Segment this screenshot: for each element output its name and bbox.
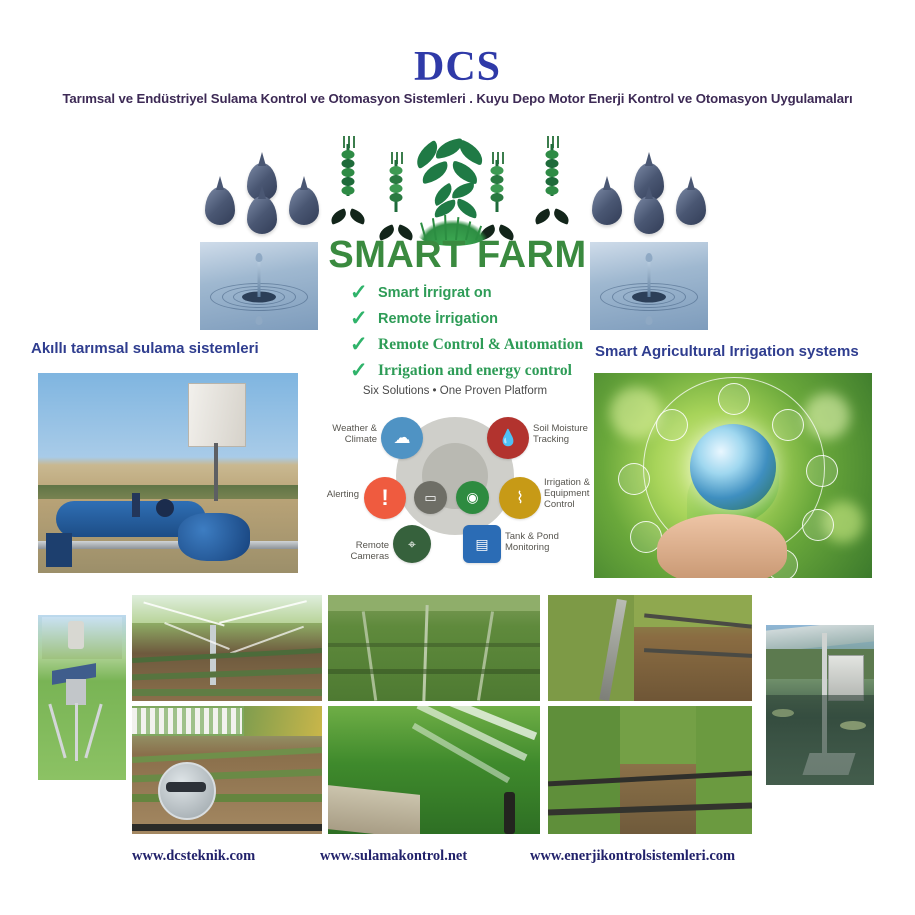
- feature-item: ✓ Smart İrrigrat on: [350, 282, 585, 305]
- footer-links: www.dcsteknik.com www.sulamakontrol.net …: [0, 848, 915, 870]
- wheel-node-soil-moisture[interactable]: 💧: [487, 417, 529, 459]
- wheel-node-signal[interactable]: ◉: [456, 481, 489, 514]
- solar-panel-icon: [806, 455, 838, 487]
- water-drop-icon: [676, 187, 706, 225]
- water-drop-icon: [247, 196, 277, 234]
- sun-icon: [718, 383, 750, 415]
- feature-label: Irrigation and energy control: [378, 362, 572, 379]
- plant-sprout-icon: [802, 509, 834, 541]
- battery-icon: [772, 409, 804, 441]
- water-drop-icon: [634, 196, 664, 234]
- feature-item: ✓ Remote Control & Automation: [350, 334, 585, 357]
- feature-label: Remote İrrigation: [378, 311, 498, 327]
- wheel-label-irrigation-equipment: Irrigation &EquipmentControl: [544, 477, 590, 510]
- footer-link-sulamakontrol[interactable]: www.sulamakontrol.net: [320, 848, 467, 865]
- drip-tape-soil-furrow-photo: [548, 595, 752, 701]
- wheel-node-irrigation-equipment[interactable]: ⌇: [499, 477, 541, 519]
- feature-item: ✓ Irrigation and energy control: [350, 360, 585, 383]
- wheel-title: Six Solutions • One Proven Platform: [325, 385, 585, 397]
- sprinkler-field-rows-photo: [132, 595, 322, 701]
- feature-label: Smart İrrigrat on: [378, 285, 492, 301]
- green-energy-globe-in-hand-photo: [594, 373, 872, 578]
- page-title: DCS: [0, 46, 915, 88]
- smart-farm-wordmark: SMART FARM: [0, 236, 915, 274]
- wheel-label-alerting: Alerting: [311, 489, 359, 500]
- footer-link-dcsteknik[interactable]: www.dcsteknik.com: [132, 848, 255, 865]
- wheel-node-remote-cameras[interactable]: ⌖: [393, 525, 431, 563]
- feature-label: Remote Control & Automation: [378, 336, 583, 353]
- wheel-node-tank-pond[interactable]: ▤: [463, 525, 501, 563]
- wheel-label-weather: Weather &Climate: [323, 423, 377, 445]
- check-icon: ✓: [350, 361, 370, 381]
- caption-right: Smart Agricultural Irrigation systems: [595, 343, 859, 360]
- check-icon: ✓: [350, 309, 370, 329]
- irrigation-pump-control-cabinet-photo: [38, 373, 298, 573]
- lawn-sprinkler-spray-photo: [328, 706, 540, 834]
- wheel-node-weather[interactable]: ☁: [381, 417, 423, 459]
- caption-left: Akıllı tarımsal sulama sistemleri: [31, 340, 259, 357]
- wheat-stalk-icon: [331, 144, 365, 222]
- water-drop-icon: [205, 187, 235, 225]
- feature-checklist: ✓ Smart İrrigrat on ✓ Remote İrrigation …: [350, 282, 585, 386]
- wheel-label-tank-pond: Tank & PondMonitoring: [505, 531, 567, 553]
- drip-irrigation-green-crop-photo: [548, 706, 752, 834]
- lightbulb-icon: [618, 463, 650, 495]
- water-drop-icon: [289, 187, 319, 225]
- wind-turbine-icon: [656, 409, 688, 441]
- wheel-node-alerting[interactable]: !: [364, 477, 406, 519]
- wheel-label-soil-moisture: Soil MoistureTracking: [533, 423, 589, 445]
- wheel-node-laptop[interactable]: ▭: [414, 481, 447, 514]
- check-icon: ✓: [350, 335, 370, 355]
- feature-item: ✓ Remote İrrigation: [350, 308, 585, 331]
- plant-leaves-icon: [429, 182, 481, 222]
- drip-line-crop-rows-photo: [328, 595, 540, 701]
- solar-weather-station-photo: [38, 615, 126, 780]
- footer-link-enerjikontrolsistemleri[interactable]: www.enerjikontrolsistemleri.com: [530, 848, 735, 865]
- smart-farm-logo-art: [325, 138, 580, 246]
- water-drop-icon: [592, 187, 622, 225]
- wheat-stalk-icon: [379, 160, 413, 238]
- page-subtitle: Tarımsal ve Endüstriyel Sulama Kontrol v…: [0, 91, 915, 106]
- six-solutions-wheel: Six Solutions • One Proven Platform ☁ We…: [325, 385, 585, 570]
- wheat-stalk-icon: [535, 144, 569, 222]
- water-tower-pond-cabinet-photo: [766, 625, 874, 785]
- garden-drip-irrigation-fence-photo: [132, 706, 322, 834]
- check-icon: ✓: [350, 283, 370, 303]
- wheel-label-remote-cameras: Remote Cameras: [317, 540, 389, 562]
